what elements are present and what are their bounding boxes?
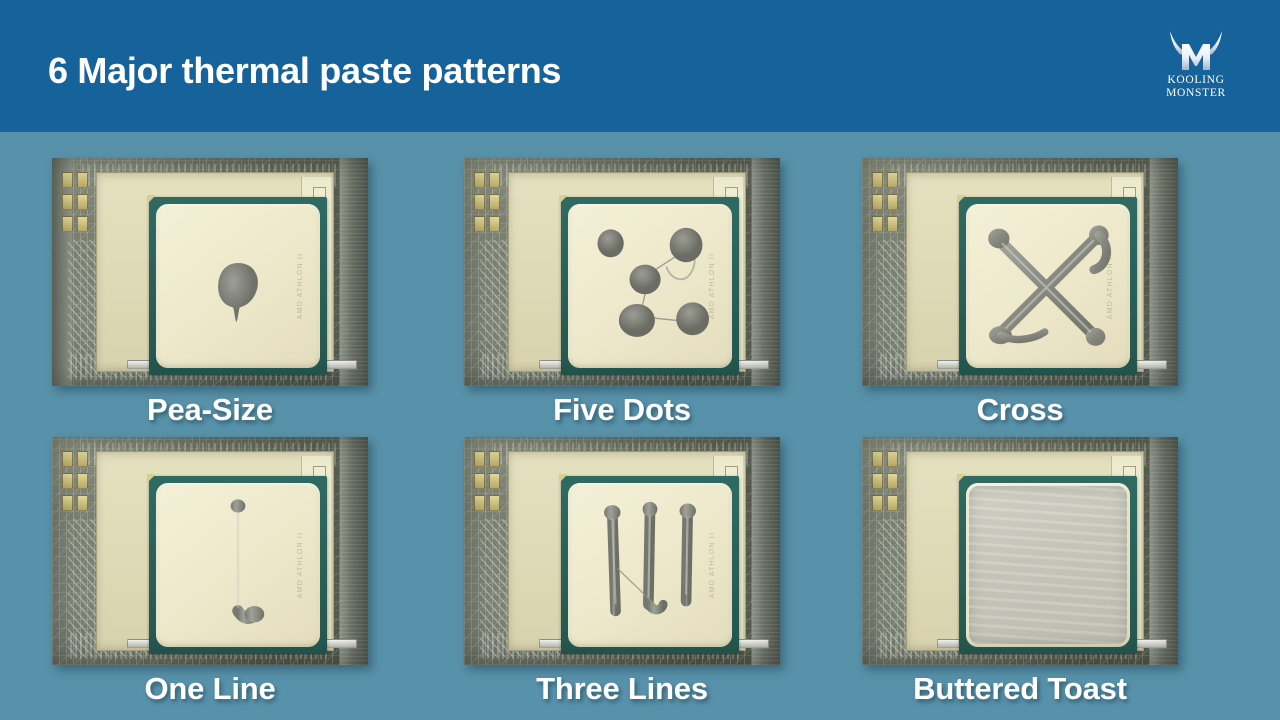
integrated-heat-spreader: AMD ATHLON II [156,483,320,647]
substrate-notch [957,195,966,204]
metal-bracket-right [752,158,780,386]
metal-bracket-right [1150,437,1178,665]
pattern-caption: Cross [850,392,1190,428]
cpu-substrate: AMD ATHLON II [959,197,1137,375]
cpu-substrate: AMD ATHLON II [561,476,739,654]
cpu-substrate: AMD ATHLON II [149,476,327,654]
thermal-paste-buttered-toast [969,486,1127,644]
integrated-heat-spreader: AMD ATHLON II [966,204,1130,368]
cpu-photo-three-lines: SOCKET AM3 AMD ATHLON II [464,437,780,665]
cpu-photo-one-line: SOCKET AM3 AMD ATHLON II [52,437,368,665]
cpu-socket: SOCKET AM3 AMD ATHLON II [508,172,746,372]
metal-bracket-right [1150,158,1178,386]
cpu-substrate: AMD ATHLON II [149,197,327,375]
integrated-heat-spreader: AMD ATHLON II [156,204,320,368]
pattern-card-three-lines: SOCKET AM3 AMD ATHLON II [452,437,792,707]
cpu-photo-five-dots: SOCKET AM3 AMD ATHLON II [464,158,780,386]
thermal-paste-cross [966,204,1130,368]
cpu-socket: SOCKET AM3 AMD ATHLON II [906,172,1144,372]
page-title: 6 Major thermal paste patterns [48,50,561,92]
substrate-notch [147,195,156,204]
pattern-grid: SOCKET AM3 AMD ATHLON II [0,132,1280,720]
metal-bracket-right [340,437,368,665]
pattern-caption: Pea-Size [40,392,380,428]
substrate-notch [559,195,568,204]
cpu-socket: SOCKET AM3 AMD ATHLON II [96,451,334,651]
pattern-caption: One Line [40,671,380,707]
integrated-heat-spreader [966,483,1130,647]
thermal-paste-one-line [156,483,320,647]
brand-logo: KOOLING MONSTER [1146,30,1246,104]
pattern-caption: Buttered Toast [850,671,1190,707]
cpu-photo-pea-size: SOCKET AM3 AMD ATHLON II [52,158,368,386]
page-header: 6 Major thermal paste patterns [0,0,1280,132]
cpu-socket: SOCKET AM3 AMD ATHLON II [508,451,746,651]
logo-line-2: MONSTER [1166,87,1226,100]
thermal-paste-five-dots [568,204,732,368]
cpu-photo-buttered-toast: SOCKET AM3 [862,437,1178,665]
metal-bracket-right [752,437,780,665]
monster-m-icon [1168,30,1224,72]
pattern-card-pea-size: SOCKET AM3 AMD ATHLON II [40,158,380,428]
logo-wordmark: KOOLING MONSTER [1166,74,1226,99]
thermal-paste-pea [156,204,320,368]
pattern-card-five-dots: SOCKET AM3 AMD ATHLON II [452,158,792,428]
pattern-caption: Three Lines [452,671,792,707]
cpu-photo-cross: SOCKET AM3 AMD ATHLON II [862,158,1178,386]
substrate-notch [559,474,568,483]
metal-bracket-right [340,158,368,386]
cpu-socket: SOCKET AM3 [906,451,1144,651]
pattern-card-cross: SOCKET AM3 AMD ATHLON II [850,158,1190,428]
cpu-substrate [959,476,1137,654]
logo-line-1: KOOLING [1166,74,1226,87]
substrate-notch [957,474,966,483]
cpu-substrate: AMD ATHLON II [561,197,739,375]
cpu-socket: SOCKET AM3 AMD ATHLON II [96,172,334,372]
pattern-caption: Five Dots [452,392,792,428]
substrate-notch [147,474,156,483]
pattern-card-buttered-toast: SOCKET AM3 Buttered Toast [850,437,1190,707]
integrated-heat-spreader: AMD ATHLON II [568,204,732,368]
pattern-card-one-line: SOCKET AM3 AMD ATHLON II [40,437,380,707]
integrated-heat-spreader: AMD ATHLON II [568,483,732,647]
thermal-paste-three-lines [568,483,732,647]
